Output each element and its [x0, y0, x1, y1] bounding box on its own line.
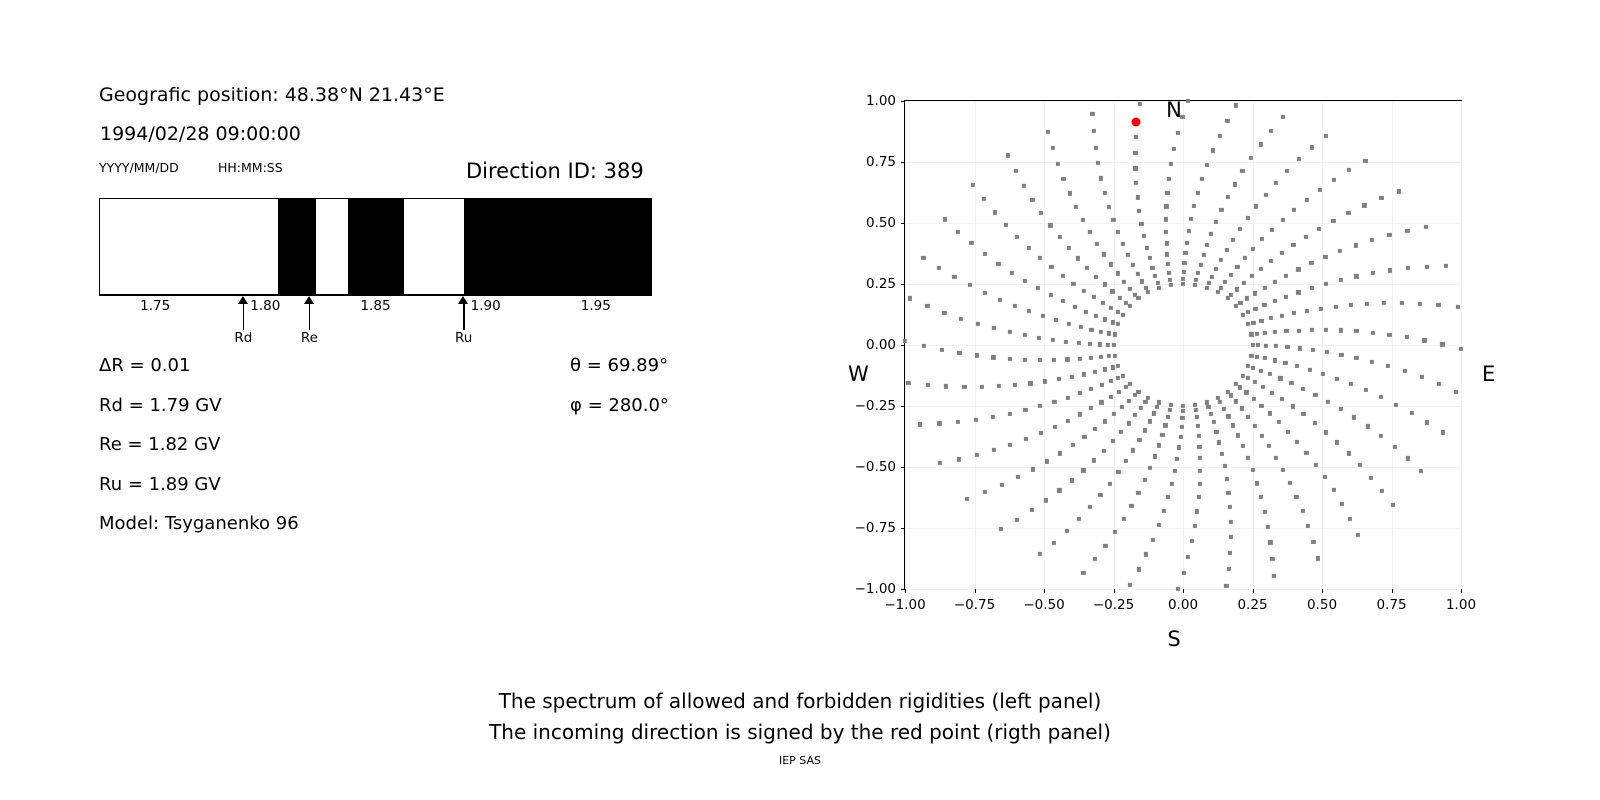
direction-sample-dot [1189, 217, 1193, 221]
direction-sample-dot [1166, 495, 1170, 499]
direction-sample-dot [1246, 376, 1250, 380]
direction-sample-dot [1229, 535, 1233, 539]
direction-sample-dot [1015, 235, 1019, 239]
direction-sample-dot [1347, 168, 1351, 172]
direction-sample-dot [1164, 241, 1168, 245]
y-tickmark [901, 223, 905, 224]
direction-sample-dot [1295, 440, 1299, 444]
parameter-row: Model: Tsyganenko 96 [99, 513, 299, 534]
direction-sample-dot [1007, 330, 1011, 334]
direction-sample-dot [1057, 235, 1061, 239]
date-format-hint: YYYY/MM/DD [99, 160, 179, 175]
direction-sample-dot [1183, 251, 1187, 255]
direction-sample-dot [1048, 223, 1052, 227]
direction-sample-dot [1136, 296, 1140, 300]
x-tickmark [1461, 589, 1462, 593]
direction-sample-dot [1234, 103, 1238, 107]
direction-sample-dot [1181, 282, 1185, 286]
x-tick-label: −0.75 [954, 597, 995, 613]
direction-sample-dot [1129, 504, 1133, 508]
direction-sample-dot [1214, 266, 1218, 270]
direction-sample-dot [1366, 424, 1370, 428]
angle-parameter-row: θ = 69.89° [570, 355, 668, 376]
direction-sample-dot [1260, 237, 1264, 241]
direction-sample-dot [1207, 281, 1211, 285]
direction-sample-dot [996, 261, 1000, 265]
direction-sample-dot [1263, 193, 1267, 197]
forbidden-band [348, 199, 404, 294]
direction-sample-dot [1008, 411, 1012, 415]
direction-sample-dot [1185, 240, 1189, 244]
direction-sample-dot [1444, 263, 1448, 267]
direction-sample-dot [1369, 476, 1373, 480]
direction-sample-dot [1324, 328, 1328, 332]
direction-sample-dot [903, 339, 907, 343]
direction-sample-dot [1065, 529, 1069, 533]
direction-sample-dot [975, 453, 979, 457]
direction-sample-dot [1101, 301, 1105, 305]
direction-sample-dot [1061, 299, 1065, 303]
direction-sample-dot [1045, 459, 1049, 463]
direction-sample-dot [1180, 416, 1184, 420]
direction-sample-dot [1180, 425, 1184, 429]
direction-sample-dot [1038, 256, 1042, 260]
direction-sample-dot [1263, 356, 1267, 360]
direction-sample-dot [1070, 478, 1074, 482]
direction-sample-dot [1186, 555, 1190, 559]
direction-id-label: Direction ID: 389 [466, 159, 644, 183]
direction-sample-dot [1088, 342, 1092, 346]
gridline-horizontal [905, 345, 1461, 346]
direction-sample-dot [1193, 283, 1197, 287]
direction-sample-dot [1323, 255, 1327, 259]
direction-sample-dot [918, 422, 922, 426]
direction-sample-dot [1122, 517, 1126, 521]
direction-sample-dot [1160, 433, 1164, 437]
direction-sample-dot [1081, 571, 1085, 575]
direction-sample-dot [991, 355, 995, 359]
direction-sample-dot [1175, 457, 1179, 461]
y-tickmark [901, 345, 905, 346]
direction-sample-dot [992, 448, 996, 452]
direction-sample-dot [1015, 475, 1019, 479]
direction-sample-dot [1269, 129, 1273, 133]
direction-sample-dot [1067, 191, 1071, 195]
rigidity-marker-label-ru: Ru [455, 330, 472, 346]
time-format-hint: HH:MM:SS [218, 160, 283, 175]
direction-sample-dot [983, 291, 987, 295]
direction-sample-dot [1121, 312, 1125, 316]
direction-sample-dot [938, 461, 942, 465]
direction-sample-dot [1308, 368, 1312, 372]
direction-sample-dot [1109, 395, 1113, 399]
y-tick-label: −0.25 [855, 398, 896, 414]
direction-sample-dot [1346, 211, 1350, 215]
direction-sample-dot [1164, 204, 1168, 208]
direction-sample-dot [1253, 380, 1257, 384]
direction-sample-dot [1052, 358, 1056, 362]
direction-sample-dot [1338, 249, 1342, 253]
direction-sample-dot [1121, 373, 1125, 377]
direction-sample-dot [1312, 421, 1316, 425]
direction-sample-dot [1246, 415, 1250, 419]
direction-sample-dot [1060, 274, 1064, 278]
direction-sample-dot [1186, 99, 1190, 103]
direction-sample-dot [1143, 400, 1147, 404]
direction-sample-dot [1240, 406, 1244, 410]
direction-sample-dot [1006, 153, 1010, 157]
direction-sample-dot [1167, 271, 1171, 275]
direction-sample-dot [1332, 178, 1336, 182]
direction-sample-dot [1027, 245, 1031, 249]
direction-sample-dot [1037, 336, 1041, 340]
direction-sample-dot [1177, 445, 1181, 449]
direction-sample-dot [1298, 346, 1302, 350]
direction-sample-dot [1404, 335, 1408, 339]
direction-sample-dot [1169, 403, 1173, 407]
direction-sample-dot [1324, 282, 1328, 286]
direction-sample-dot [1246, 322, 1250, 326]
direction-sample-dot [1241, 373, 1245, 377]
direction-sample-dot [1246, 456, 1250, 460]
direction-sample-dot [1110, 289, 1114, 293]
direction-sample-dot [1195, 509, 1199, 513]
direction-sample-dot [1169, 162, 1173, 166]
direction-map-panel: −1.00−0.75−0.50−0.250.000.250.500.751.00… [840, 40, 1540, 660]
direction-sample-dot [1197, 434, 1201, 438]
direction-sample-dot [1334, 305, 1338, 309]
direction-sample-dot [1030, 198, 1034, 202]
direction-sample-dot [965, 496, 969, 500]
direction-sample-dot [1209, 412, 1213, 416]
direction-sample-dot [1246, 310, 1250, 314]
direction-sample-dot [1354, 356, 1358, 360]
direction-sample-dot [1210, 274, 1214, 278]
direction-sample-dot [1217, 440, 1221, 444]
direction-sample-dot [1291, 404, 1295, 408]
direction-sample-dot [1440, 430, 1444, 434]
direction-sample-dot [1078, 357, 1082, 361]
direction-sample-dot [925, 304, 929, 308]
direction-sample-dot [1241, 312, 1245, 316]
direction-sample-dot [1089, 406, 1093, 410]
direction-sample-dot [1379, 434, 1383, 438]
direction-sample-dot [1394, 403, 1398, 407]
direction-sample-dot [1403, 369, 1407, 373]
direction-sample-dot [1222, 406, 1226, 410]
direction-sample-dot [1014, 169, 1018, 173]
direction-sample-dot [1140, 279, 1144, 283]
direction-sample-dot [1093, 557, 1097, 561]
direction-sample-dot [1314, 462, 1318, 466]
direction-sample-dot [1218, 134, 1222, 138]
direction-sample-dot [1023, 408, 1027, 412]
direction-sample-dot [1266, 525, 1270, 529]
direction-sample-dot [1258, 142, 1262, 146]
direction-sample-dot [1094, 314, 1098, 318]
direction-sample-dot [1454, 389, 1458, 393]
direction-sample-dot [1311, 348, 1315, 352]
direction-sample-dot [1251, 366, 1255, 370]
direction-sample-dot [999, 527, 1003, 531]
direction-sample-dot [1155, 281, 1159, 285]
direction-sample-dot [1196, 271, 1200, 275]
direction-sample-dot [1056, 162, 1060, 166]
direction-sample-dot [1284, 273, 1288, 277]
direction-sample-dot [1388, 268, 1392, 272]
direction-sample-dot [983, 490, 987, 494]
direction-sample-dot [1148, 419, 1152, 423]
forbidden-band [464, 199, 652, 294]
direction-sample-dot [969, 241, 973, 245]
direction-sample-dot [1078, 391, 1082, 395]
x-tickmark [1044, 589, 1045, 593]
direction-sample-dot [1339, 278, 1343, 282]
direction-sample-dot [1039, 211, 1043, 215]
direction-sample-dot [1324, 430, 1328, 434]
direction-sample-dot [1117, 389, 1121, 393]
direction-sample-dot [1137, 567, 1141, 571]
direction-sample-dot [1116, 376, 1120, 380]
direction-sample-dot [1176, 587, 1180, 591]
direction-sample-dot [1052, 425, 1056, 429]
direction-sample-dot [1339, 328, 1343, 332]
direction-sample-dot [1228, 551, 1232, 555]
direction-sample-dot [1128, 304, 1132, 308]
direction-sample-dot [1190, 539, 1194, 543]
direction-sample-dot [959, 317, 963, 321]
direction-sample-dot [942, 311, 946, 315]
direction-sample-dot [991, 415, 995, 419]
direction-sample-dot [1219, 257, 1223, 261]
direction-sample-dot [1133, 292, 1137, 296]
direction-sample-dot [1182, 571, 1186, 575]
direction-sample-dot [1218, 400, 1222, 404]
direction-sample-dot [1245, 296, 1249, 300]
direction-sample-dot [1121, 242, 1125, 246]
direction-sample-dot [1363, 159, 1367, 163]
x-tick-label: 0.00 [1168, 597, 1198, 613]
gridline-horizontal [905, 528, 1461, 529]
direction-sample-dot [1192, 204, 1196, 208]
direction-sample-dot [1077, 517, 1081, 521]
direction-sample-dot [1219, 286, 1223, 290]
direction-sample-dot [962, 385, 966, 389]
direction-sample-dot [1139, 406, 1143, 410]
direction-sample-dot [1387, 233, 1391, 237]
direction-sample-dot [1157, 286, 1161, 290]
direction-sample-dot [1296, 290, 1300, 294]
direction-sample-dot [1046, 129, 1050, 133]
direction-sample-dot [1136, 491, 1140, 495]
direction-sample-dot [1393, 445, 1397, 449]
direction-sample-dot [1418, 302, 1422, 306]
direction-sample-dot [1147, 256, 1151, 260]
direction-sample-dot [1231, 423, 1235, 427]
direction-sample-dot [1325, 350, 1329, 354]
direction-sample-dot [1127, 399, 1131, 403]
direction-sample-dot [1326, 400, 1330, 404]
direction-sample-dot [1197, 481, 1201, 485]
y-tickmark [901, 467, 905, 468]
direction-sample-dot [1196, 424, 1200, 428]
direction-sample-dot [1176, 131, 1180, 135]
compass-north-label: N [1166, 98, 1182, 122]
direction-sample-dot [1280, 218, 1284, 222]
direction-sample-dot [1271, 574, 1275, 578]
direction-sample-dot [1193, 403, 1197, 407]
direction-sample-dot [1057, 488, 1061, 492]
direction-sample-dot [1099, 383, 1103, 387]
direction-sample-dot [1424, 264, 1428, 268]
direction-sample-dot [1148, 466, 1152, 470]
direction-sample-dot [1354, 274, 1358, 278]
direction-sample-dot [1274, 181, 1278, 185]
direction-sample-dot [1379, 395, 1383, 399]
direction-sample-dot [1339, 353, 1343, 357]
direction-sample-dot [1172, 147, 1176, 151]
direction-sample-dot [1195, 415, 1199, 419]
direction-sample-dot [943, 217, 947, 221]
direction-sample-dot [1107, 331, 1111, 335]
direction-sample-dot [1280, 314, 1284, 318]
direction-sample-dot [1139, 222, 1143, 226]
direction-sample-dot [1089, 387, 1093, 391]
direction-sample-dot [1335, 440, 1339, 444]
direction-sample-dot [1313, 393, 1317, 397]
direction-sample-dot [1038, 404, 1042, 408]
rigidity-marker-arrows: RdReRu [99, 298, 652, 348]
y-tick-label: 0.00 [866, 337, 896, 353]
x-tick-label: −0.25 [1093, 597, 1134, 613]
direction-sample-dot [1391, 503, 1395, 507]
direction-sample-dot [1137, 209, 1141, 213]
direction-sample-dot [1316, 556, 1320, 560]
direction-sample-dot [1196, 191, 1200, 195]
direction-sample-dot [1297, 328, 1301, 332]
rigidity-spectrum-bar-wrap [99, 198, 652, 295]
y-tick-label: −0.50 [855, 459, 896, 475]
direction-sample-dot [1107, 354, 1111, 358]
direction-sample-dot [1281, 115, 1285, 119]
direction-sample-dot [980, 385, 984, 389]
direction-sample-dot [1133, 393, 1137, 397]
direction-sample-dot [1216, 290, 1220, 294]
direction-sample-dot [1187, 229, 1191, 233]
direction-sample-dot [1124, 459, 1128, 463]
direction-sample-dot [1356, 533, 1360, 537]
x-tick-label: 1.00 [1446, 597, 1476, 613]
direction-sample-dot [1090, 112, 1094, 116]
x-tickmark [1253, 589, 1254, 593]
y-tick-label: −1.00 [855, 581, 896, 597]
direction-sample-dot [1102, 449, 1106, 453]
direction-sample-dot [1311, 540, 1315, 544]
direction-sample-dot [1099, 355, 1103, 359]
compass-south-label: S [1167, 627, 1180, 651]
direction-sample-dot [1286, 430, 1290, 434]
direction-sample-dot [1078, 412, 1082, 416]
direction-sample-dot [1010, 270, 1014, 274]
geographic-position-label: Geografic position: 48.38°N 21.43°E [99, 84, 445, 106]
direction-sample-dot [1128, 382, 1132, 386]
y-tickmark [901, 406, 905, 407]
direction-sample-dot [1112, 412, 1116, 416]
x-tickmark [905, 589, 906, 593]
direction-sample-dot [1256, 343, 1260, 347]
direction-sample-dot [1405, 229, 1409, 233]
direction-sample-dot [1111, 218, 1115, 222]
direction-sample-dot [1397, 189, 1401, 193]
direction-sample-dot [1082, 372, 1086, 376]
direction-sample-dot [1354, 243, 1358, 247]
direction-sample-dot [1061, 177, 1065, 181]
direction-sample-dot [908, 296, 912, 300]
direction-sample-dot [1289, 381, 1293, 385]
direction-sample-dot [1280, 251, 1284, 255]
direction-sample-dot [1182, 261, 1186, 265]
direction-sample-dot [983, 252, 987, 256]
direction-sample-dot [1278, 376, 1282, 380]
x-tick-label: −0.50 [1023, 597, 1064, 613]
direction-sample-dot [940, 348, 944, 352]
direction-sample-dot [1270, 391, 1274, 395]
direction-sample-dot [1111, 320, 1115, 324]
direction-sample-dot [1349, 382, 1353, 386]
direction-sample-dot [1280, 397, 1284, 401]
direction-sample-dot [1200, 177, 1204, 181]
direction-sample-dot [1409, 411, 1413, 415]
direction-sample-dot [1242, 281, 1246, 285]
x-tick-label: 0.75 [1376, 597, 1406, 613]
direction-sample-dot [1301, 412, 1305, 416]
direction-sample-dot [1251, 247, 1255, 251]
direction-sample-dot [1235, 265, 1239, 269]
y-tick-label: 0.25 [866, 276, 896, 292]
direction-sample-dot [1098, 342, 1102, 346]
direction-sample-dot [1331, 218, 1335, 222]
direction-sample-dot [956, 230, 960, 234]
parameter-row: Ru = 1.89 GV [99, 474, 221, 495]
direction-sample-dot [1076, 341, 1080, 345]
direction-sample-dot [1116, 271, 1120, 275]
direction-sample-dot [1113, 530, 1117, 534]
direction-sample-dot [1099, 400, 1103, 404]
rigidity-spectrum-bar [99, 198, 652, 295]
direction-sample-dot [1250, 468, 1254, 472]
direction-sample-dot [1340, 502, 1344, 506]
direction-sample-dot [1023, 333, 1027, 337]
direction-sample-dot [1133, 151, 1137, 155]
direction-sample-dot [957, 351, 961, 355]
direction-sample-dot [1004, 223, 1008, 227]
direction-sample-dot [1321, 372, 1325, 376]
direction-sample-dot [1112, 353, 1116, 357]
direction-sample-dot [1024, 437, 1028, 441]
direction-sample-dot [1370, 331, 1374, 335]
direction-sample-dot [1310, 145, 1314, 149]
direction-sample-dot [1220, 452, 1224, 456]
direction-sample-dot [1065, 357, 1069, 361]
direction-sample-dot [1309, 261, 1313, 265]
direction-sample-dot [1102, 282, 1106, 286]
direction-sample-dot [1288, 481, 1292, 485]
direction-sample-dot [1227, 567, 1231, 571]
direction-sample-dot [1262, 286, 1266, 290]
direction-sample-dot [1386, 364, 1390, 368]
direction-sample-dot [1281, 468, 1285, 472]
direction-sample-dot [1273, 280, 1277, 284]
